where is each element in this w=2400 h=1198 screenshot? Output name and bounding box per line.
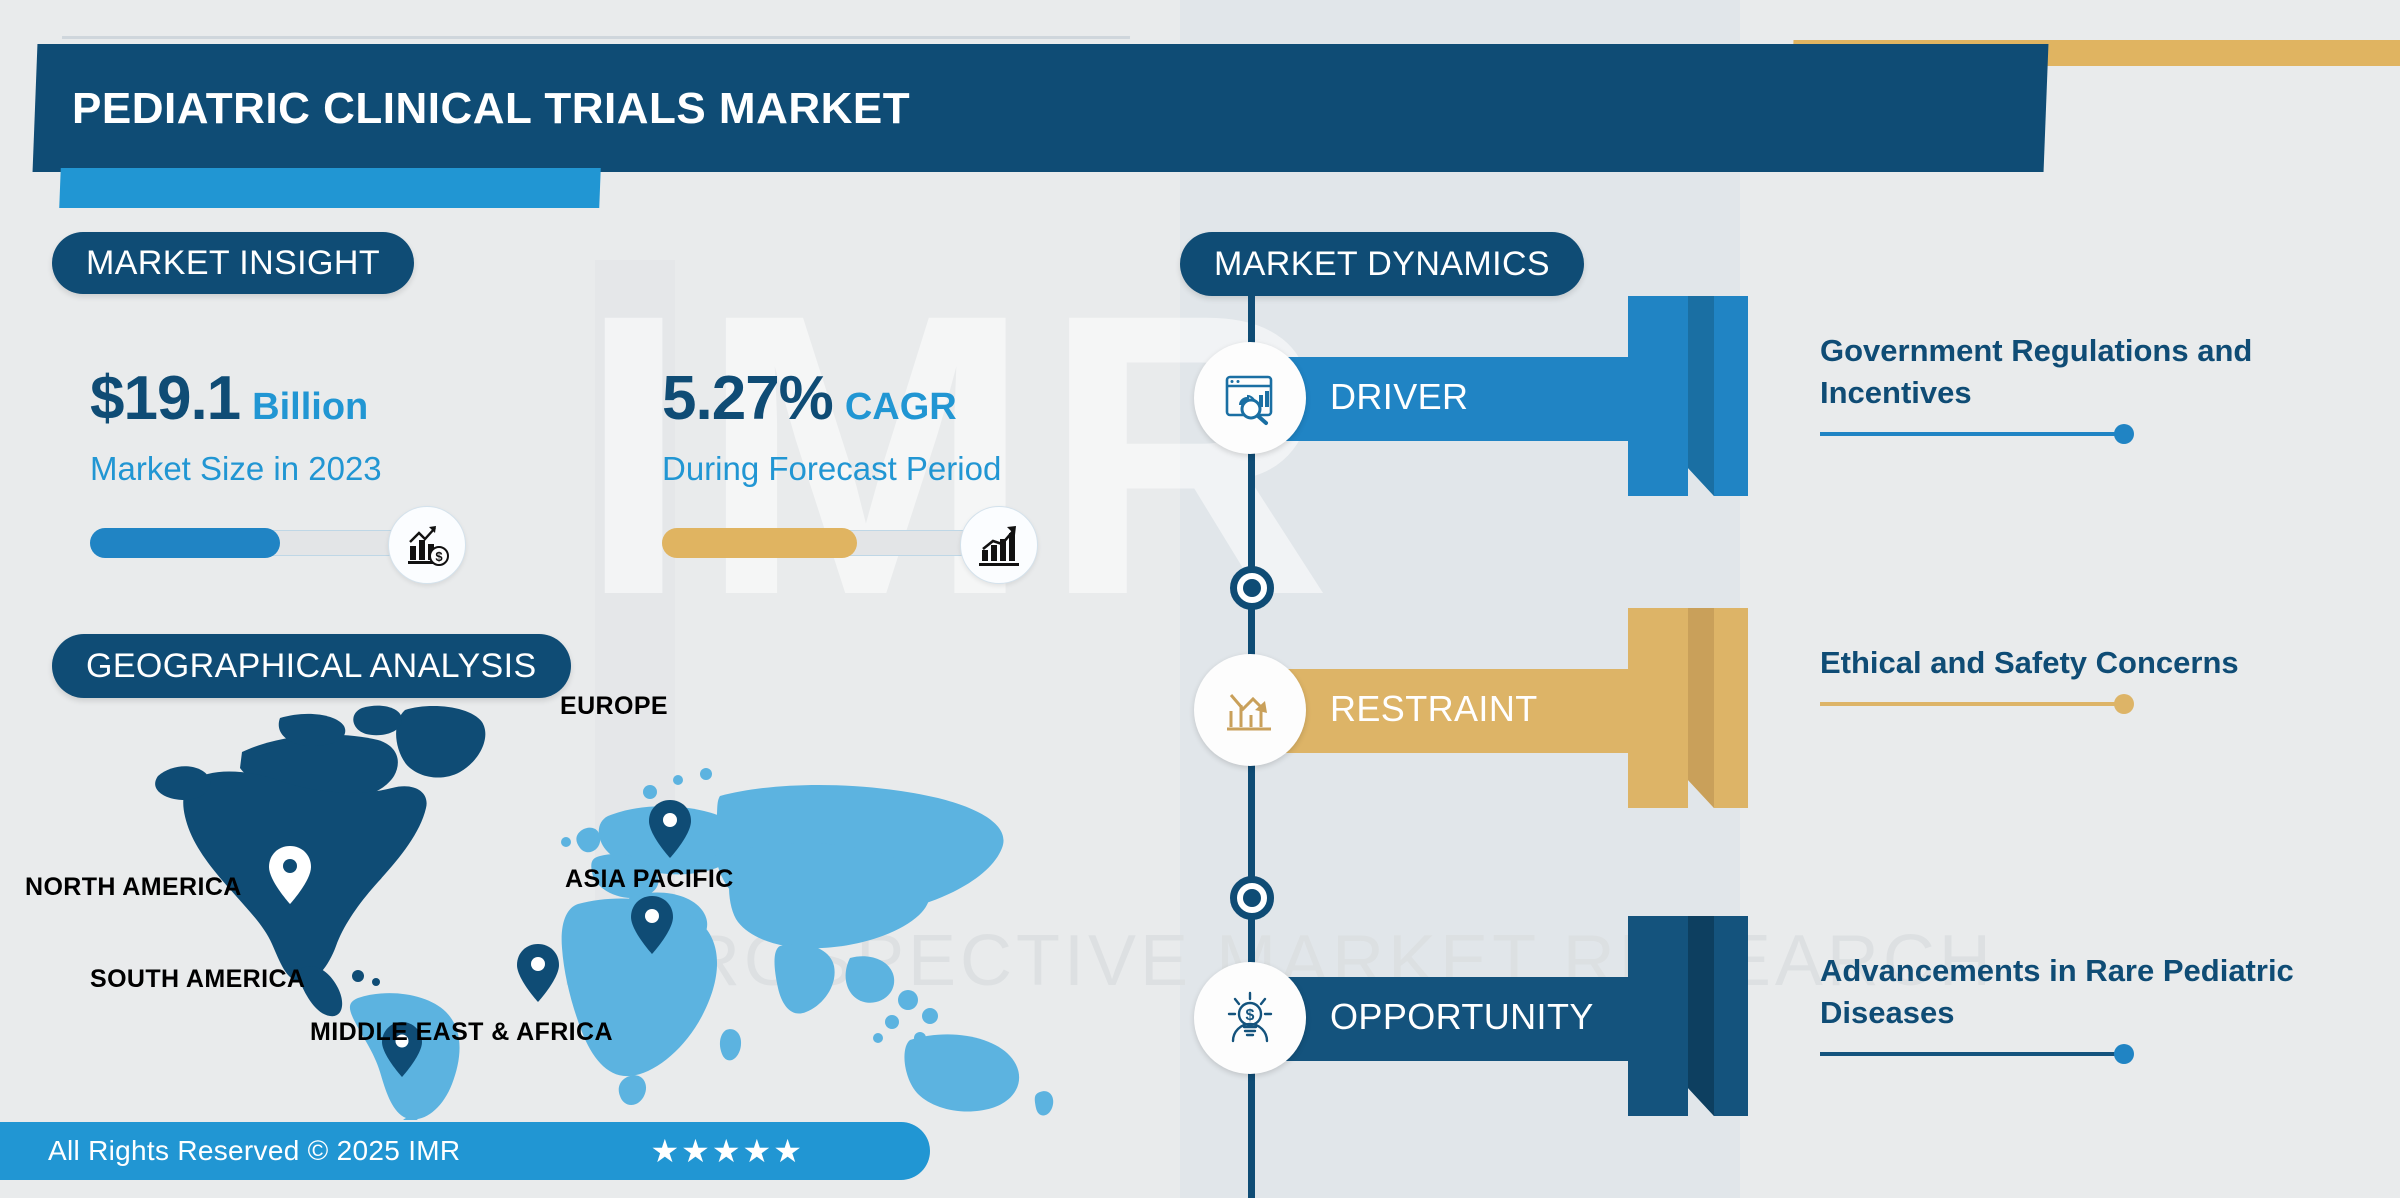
market-insight-pill-label: MARKET INSIGHT [86,244,380,283]
declining-bar-chart-icon [1194,654,1306,766]
driver-arrow-head [1628,296,1748,496]
map-label-asia-pacific: ASIA PACIFIC [565,865,734,894]
stat-market-size-subtitle: Market Size in 2023 [90,450,510,488]
footer-bar: All Rights Reserved © 2025 IMR ★★★★★ [0,1122,930,1180]
progress-fill [662,528,857,558]
stat-cagr-value: 5.27% [662,364,833,433]
market-dynamics-pill: MARKET DYNAMICS [1180,232,1584,296]
driver-underline [1820,432,2120,436]
driver-description-block: Government Regulations and Incentives [1820,330,2380,432]
geographical-analysis-pill: GEOGRAPHICAL ANALYSIS [52,634,571,698]
map-label-middle-east-africa: MIDDLE EAST & AFRICA [310,1018,613,1047]
driver-badge-label: DRIVER [1330,376,1468,418]
dynamics-row-opportunity: $ OPPORTUNITY Advancements in Rare Pedia… [1180,944,2400,1094]
opportunity-description: Advancements in Rare Pediatric Diseases [1820,950,2380,1034]
stat-cagr: 5.27%CAGR During Forecast Period [662,368,1122,570]
stat-cagr-progress [662,520,1122,570]
svg-text:$: $ [435,549,443,564]
header-hairline [62,36,1130,39]
map-pin-middle-east-africa [517,944,559,1002]
stat-cagr-unit: CAGR [845,386,957,428]
infographic-canvas: IMR INTROSPECTIVE MARKET RESEARCH PEDIAT… [0,0,2400,1198]
growth-arrow-chart-icon [960,506,1038,584]
restraint-badge-label: RESTRAINT [1330,688,1538,730]
map-label-north-america: NORTH AMERICA [25,873,242,902]
world-map-svg [130,700,1150,1120]
stat-market-size: $19.1Billion Market Size in 2023 $ [90,368,510,570]
market-dynamics-section: DRIVER Government Regulations and Incent… [1180,296,2400,1198]
market-dynamics-pill-label: MARKET DYNAMICS [1214,245,1550,284]
stat-market-size-progress: $ [90,520,510,570]
map-label-europe: EUROPE [560,692,668,721]
driver-endpoint-dot [2114,424,2134,444]
bar-chart-dollar-icon: $ [388,506,466,584]
opportunity-underline [1820,1052,2120,1056]
page-title: PEDIATRIC CLINICAL TRIALS MARKET [72,84,910,134]
restraint-endpoint-dot [2114,694,2134,714]
opportunity-arrow-head [1628,916,1748,1116]
star-rating: ★★★★★ [650,1132,803,1170]
timeline-node [1230,876,1274,920]
stat-cagr-subtitle: During Forecast Period [662,450,1122,488]
svg-text:$: $ [1246,1007,1255,1024]
world-map: NORTH AMERICA SOUTH AMERICA EUROPE ASIA … [130,700,1150,1120]
restraint-arrow-head [1628,608,1748,808]
driver-description: Government Regulations and Incentives [1820,330,2380,414]
stat-market-size-unit: Billion [252,386,368,428]
restraint-description-block: Ethical and Safety Concerns [1820,642,2380,702]
market-insight-pill: MARKET INSIGHT [52,232,414,294]
opportunity-endpoint-dot [2114,1044,2134,1064]
timeline-node [1230,566,1274,610]
stat-cagr-headline: 5.27%CAGR [662,368,1122,430]
lightbulb-dollar-icon: $ [1194,962,1306,1074]
copyright-text: All Rights Reserved © 2025 IMR [48,1135,460,1167]
header-blue-accent-bar [59,168,601,208]
progress-fill [90,528,280,558]
dynamics-row-restraint: RESTRAINT Ethical and Safety Concerns [1180,636,2400,786]
restraint-underline [1820,702,2120,706]
stat-market-size-headline: $19.1Billion [90,368,510,430]
map-label-south-america: SOUTH AMERICA [90,965,305,994]
opportunity-description-block: Advancements in Rare Pediatric Diseases [1820,950,2380,1052]
restraint-description: Ethical and Safety Concerns [1820,642,2380,684]
geographical-analysis-pill-label: GEOGRAPHICAL ANALYSIS [86,647,537,686]
report-search-icon [1194,342,1306,454]
opportunity-badge-label: OPPORTUNITY [1330,996,1594,1038]
stat-market-size-value: $19.1 [90,364,240,433]
dynamics-row-driver: DRIVER Government Regulations and Incent… [1180,324,2400,474]
